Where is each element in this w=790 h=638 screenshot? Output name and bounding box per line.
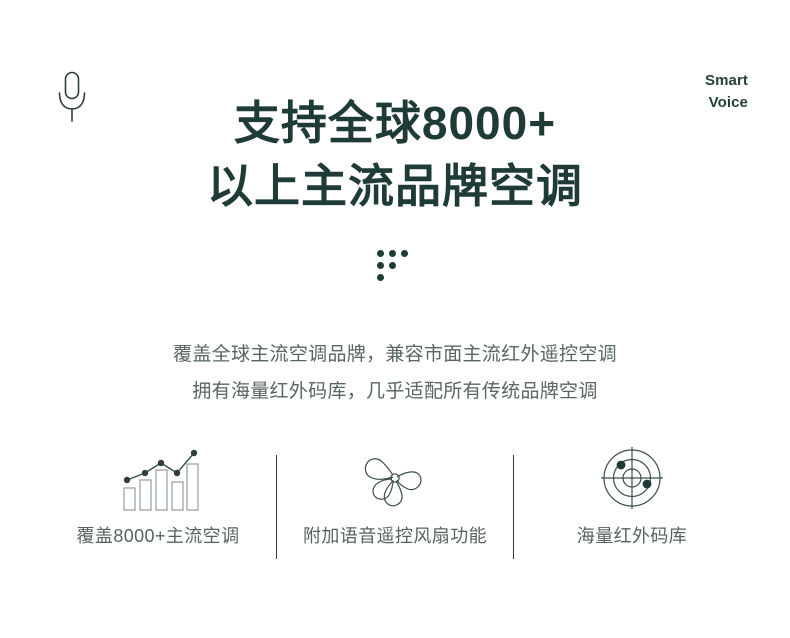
- headline-line-1: 支持全球8000+: [0, 92, 790, 155]
- feature-label-fan: 附加语音遥控风扇功能: [303, 522, 487, 548]
- body-line-2: 拥有海量红外码库，几乎适配所有传统品牌空调: [0, 373, 790, 410]
- bar-chart-trend-icon: [116, 442, 200, 516]
- ornament-dot: [389, 250, 396, 257]
- ornament-dot-empty: [389, 274, 396, 281]
- ornament-dot: [389, 262, 396, 269]
- fan-blade-icon: [355, 442, 435, 516]
- radar-target-icon: [593, 442, 671, 516]
- feature-item-codelib: 海量红外码库: [514, 442, 750, 548]
- dot-cluster-ornament: [0, 250, 790, 286]
- ornament-dot: [377, 250, 384, 257]
- brand-tag-line1: Smart: [628, 70, 748, 92]
- ornament-dot: [401, 250, 408, 257]
- ornament-dot: [377, 262, 384, 269]
- headline-line-2: 以上主流品牌空调: [0, 155, 790, 218]
- promo-banner: Smart Voice 支持全球8000+ 以上主流品牌空调 覆盖全球主流空调品…: [0, 0, 790, 638]
- ornament-dot-empty: [401, 262, 408, 269]
- feature-label-coverage: 覆盖8000+主流空调: [77, 522, 240, 548]
- body-copy: 覆盖全球主流空调品牌，兼容市面主流红外遥控空调 拥有海量红外码库，几乎适配所有传…: [0, 336, 790, 410]
- feature-item-fan: 附加语音遥控风扇功能: [277, 442, 513, 548]
- ornament-dot: [377, 274, 384, 281]
- feature-item-coverage: 覆盖8000+主流空调: [40, 442, 276, 548]
- ornament-dot-empty: [401, 274, 408, 281]
- feature-label-codelib: 海量红外码库: [577, 522, 687, 548]
- body-line-1: 覆盖全球主流空调品牌，兼容市面主流红外遥控空调: [0, 336, 790, 373]
- page-title: 支持全球8000+ 以上主流品牌空调: [0, 92, 790, 219]
- feature-row: 覆盖8000+主流空调 附加语音遥控风扇功能: [40, 442, 750, 572]
